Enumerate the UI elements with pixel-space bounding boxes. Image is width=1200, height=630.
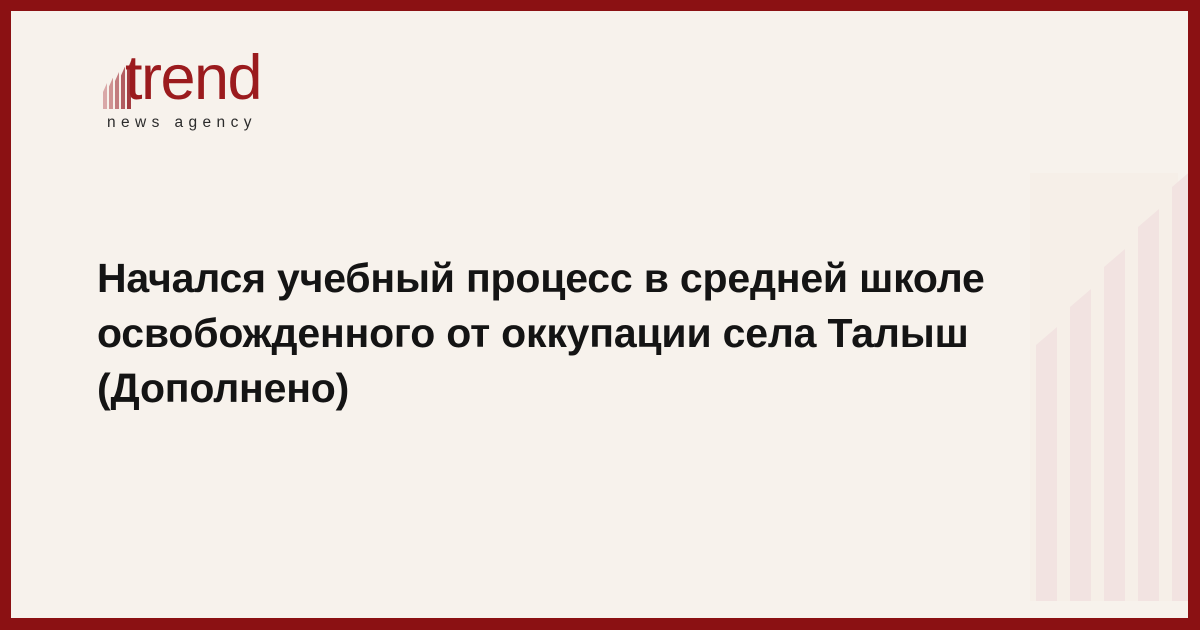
watermark-bar-1	[1036, 327, 1057, 601]
watermark-bar-3	[1104, 249, 1125, 601]
logo-wordmark: trend	[125, 47, 261, 110]
watermark-bar-4	[1138, 209, 1159, 601]
logo-tagline: news agency	[107, 114, 257, 132]
logo-bar-3	[115, 72, 119, 109]
card-canvas: trend news agency Начался учебный процес…	[11, 11, 1188, 618]
watermark-logo-mark	[1014, 161, 1188, 601]
watermark-bar-2	[1070, 289, 1091, 601]
headline-line-3: (Дополнено)	[97, 361, 977, 416]
watermark-bar-5	[1172, 169, 1188, 601]
trend-logo[interactable]: trend news agency	[97, 53, 357, 143]
share-card: trend news agency Начался учебный процес…	[0, 0, 1200, 630]
headline-line-1: Начался учебный процесс в средней школе	[97, 251, 977, 306]
logo-bar-2	[109, 78, 113, 110]
headline-line-2: освобожденного от оккупации села Талыш	[97, 306, 977, 361]
logo-bar-1	[103, 83, 107, 109]
article-headline: Начался учебный процесс в средней школе …	[97, 251, 977, 416]
